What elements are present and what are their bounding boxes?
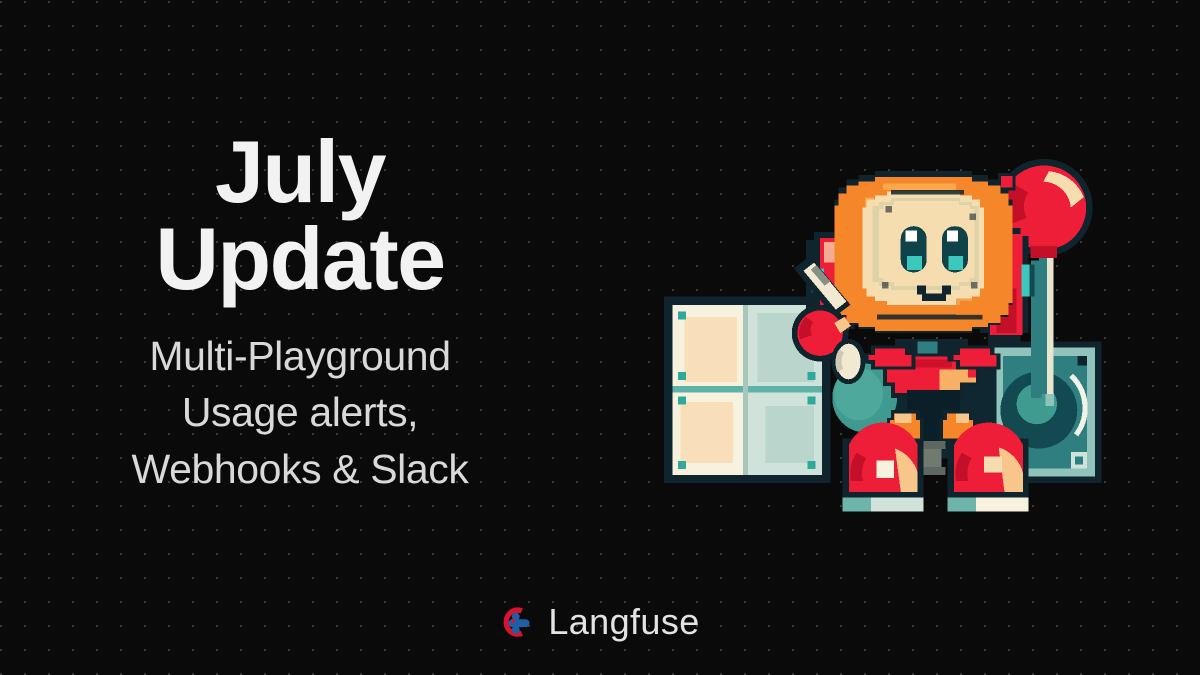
subheadline-line-1: Multi-Playground — [0, 328, 600, 384]
subheadline-line-2: Usage alerts, — [0, 384, 600, 440]
brand-lockup: Langfuse — [0, 604, 1200, 640]
langfuse-logo-icon — [500, 606, 534, 638]
page-subtitle: Multi-Playground Usage alerts, Webhooks … — [0, 302, 600, 496]
headline-line-2: Update — [0, 215, 600, 302]
subheadline-line-3: Webhooks & Slack — [0, 441, 600, 497]
headline-line-1: July — [0, 128, 600, 215]
pixel-art-robot-presenter — [648, 118, 1134, 524]
text-column: July Update Multi-Playground Usage alert… — [0, 128, 600, 497]
brand-name: Langfuse — [548, 604, 699, 640]
page-title: July Update — [0, 128, 600, 302]
poster-canvas: July Update Multi-Playground Usage alert… — [0, 0, 1200, 675]
